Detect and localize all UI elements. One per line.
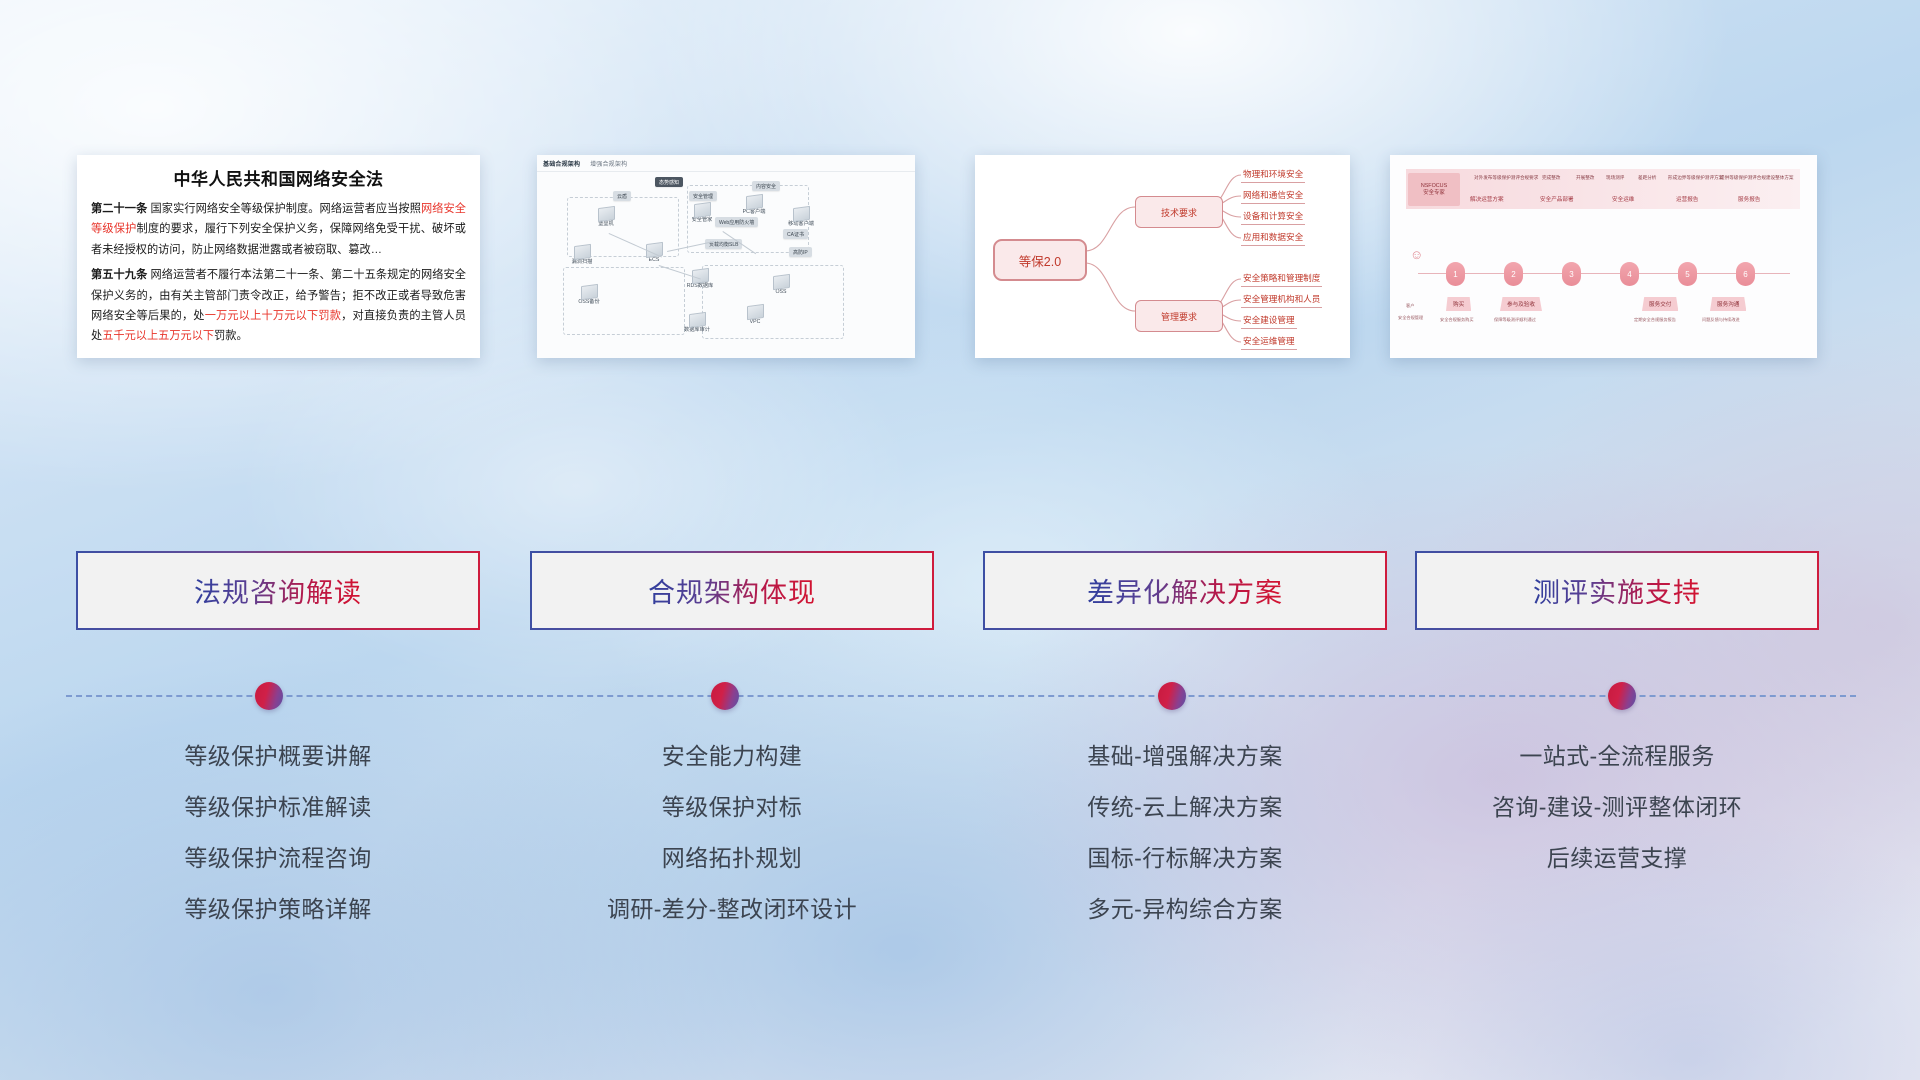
list-item: 网络拓扑规划	[530, 847, 934, 870]
section-list-4: 一站式-全流程服务 咨询-建设-测评整体闭环 后续运营支撑	[1415, 745, 1819, 898]
timeline-dot-4[interactable]	[1608, 682, 1636, 710]
section-list-3: 基础-增强解决方案 传统-云上解决方案 国标-行标解决方案 多元-异构综合方案	[983, 745, 1387, 949]
timeline-dashed-line	[66, 695, 1856, 697]
list-item: 一站式-全流程服务	[1415, 745, 1819, 768]
timeline-dot-3[interactable]	[1158, 682, 1186, 710]
list-item: 国标-行标解决方案	[983, 847, 1387, 870]
timeline-dot-1[interactable]	[255, 682, 283, 710]
section-title-box-3[interactable]: 差异化解决方案	[983, 551, 1387, 630]
section-title-box-2[interactable]: 合规架构体现	[530, 551, 934, 630]
section-list-2: 安全能力构建 等级保护对标 网络拓扑规划 调研-差分-整改闭环设计	[530, 745, 934, 949]
section-title-label-3: 差异化解决方案	[1087, 571, 1283, 610]
list-item: 等级保护标准解读	[76, 796, 480, 819]
section-title-box-1[interactable]: 法规咨询解读	[76, 551, 480, 630]
list-item: 等级保护对标	[530, 796, 934, 819]
section-title-box-4[interactable]: 测评实施支持	[1415, 551, 1819, 630]
section-title-label-1: 法规咨询解读	[194, 571, 362, 610]
list-item: 等级保护概要讲解	[76, 745, 480, 768]
section-title-label-4: 测评实施支持	[1533, 571, 1701, 610]
list-item: 安全能力构建	[530, 745, 934, 768]
list-item: 等级保护策略详解	[76, 898, 480, 921]
list-item: 后续运营支撑	[1415, 847, 1819, 870]
list-item: 调研-差分-整改闭环设计	[530, 898, 934, 921]
timeline-dot-2[interactable]	[711, 682, 739, 710]
list-item: 咨询-建设-测评整体闭环	[1415, 796, 1819, 819]
list-item: 多元-异构综合方案	[983, 898, 1387, 921]
list-item: 传统-云上解决方案	[983, 796, 1387, 819]
list-item: 等级保护流程咨询	[76, 847, 480, 870]
section-list-1: 等级保护概要讲解 等级保护标准解读 等级保护流程咨询 等级保护策略详解	[76, 745, 480, 949]
list-item: 基础-增强解决方案	[983, 745, 1387, 768]
section-title-label-2: 合规架构体现	[648, 571, 816, 610]
